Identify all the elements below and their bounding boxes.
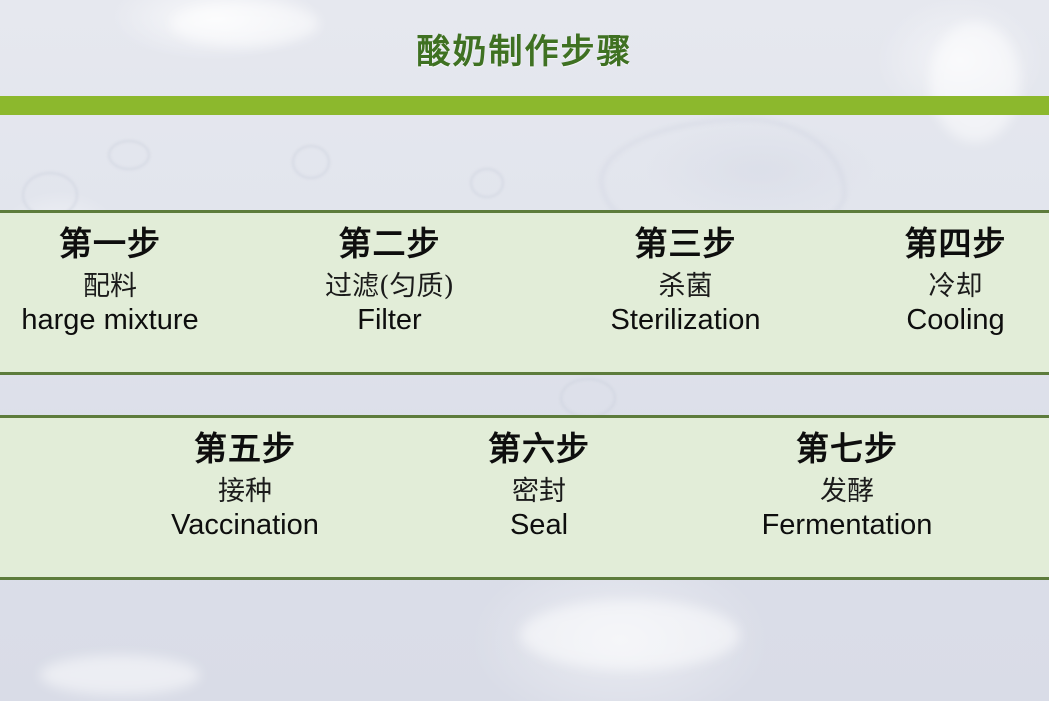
step-label-cn: 过滤(匀质) [325,271,454,303]
step-label-en: Vaccination [171,510,319,542]
step-label-en: Fermentation [762,510,933,542]
step-title: 第五步 [194,432,296,467]
step-label-cn: 冷却 [929,271,983,303]
slide-canvas: 酸奶制作步骤 第一步 配料 harge mixture 第二步 过滤(匀质) F… [0,0,1049,701]
step-label-cn: 接种 [218,476,272,508]
step-title: 第四步 [905,227,1007,262]
step-cell-3[interactable]: 第三步 杀菌 Sterilization [548,213,823,372]
step-label-en: harge mixture [21,305,198,337]
step-cell-6[interactable]: 第六步 密封 Seal [425,418,653,577]
step-title: 第七步 [796,432,898,467]
step-label-en: Seal [510,510,568,542]
step-label-en: Cooling [906,305,1004,337]
step-cell-5[interactable]: 第五步 接种 Vaccination [120,418,370,577]
page-title: 酸奶制作步骤 [417,24,633,73]
slide-title-bar: 酸奶制作步骤 [0,0,1049,96]
steps-row-first: 第一步 配料 harge mixture 第二步 过滤(匀质) Filter 第… [0,210,1049,375]
step-title: 第六步 [488,432,590,467]
step-cell-1[interactable]: 第一步 配料 harge mixture [0,213,260,372]
step-label-en: Sterilization [611,305,761,337]
step-title: 第三步 [635,227,737,262]
step-label-cn: 配料 [83,271,137,303]
step-label-cn: 发酵 [820,476,874,508]
step-cell-2[interactable]: 第二步 过滤(匀质) Filter [268,213,511,372]
step-label-en: Filter [357,305,421,337]
step-title: 第二步 [339,227,441,262]
step-label-cn: 密封 [512,476,566,508]
step-cell-7[interactable]: 第七步 发酵 Fermentation [672,418,1022,577]
step-cell-4[interactable]: 第四步 冷却 Cooling [853,213,1049,372]
step-title: 第一步 [59,227,161,262]
step-label-cn: 杀菌 [659,271,713,303]
accent-bar [0,96,1049,115]
steps-row-second: 第五步 接种 Vaccination 第六步 密封 Seal 第七步 发酵 Fe… [0,415,1049,580]
